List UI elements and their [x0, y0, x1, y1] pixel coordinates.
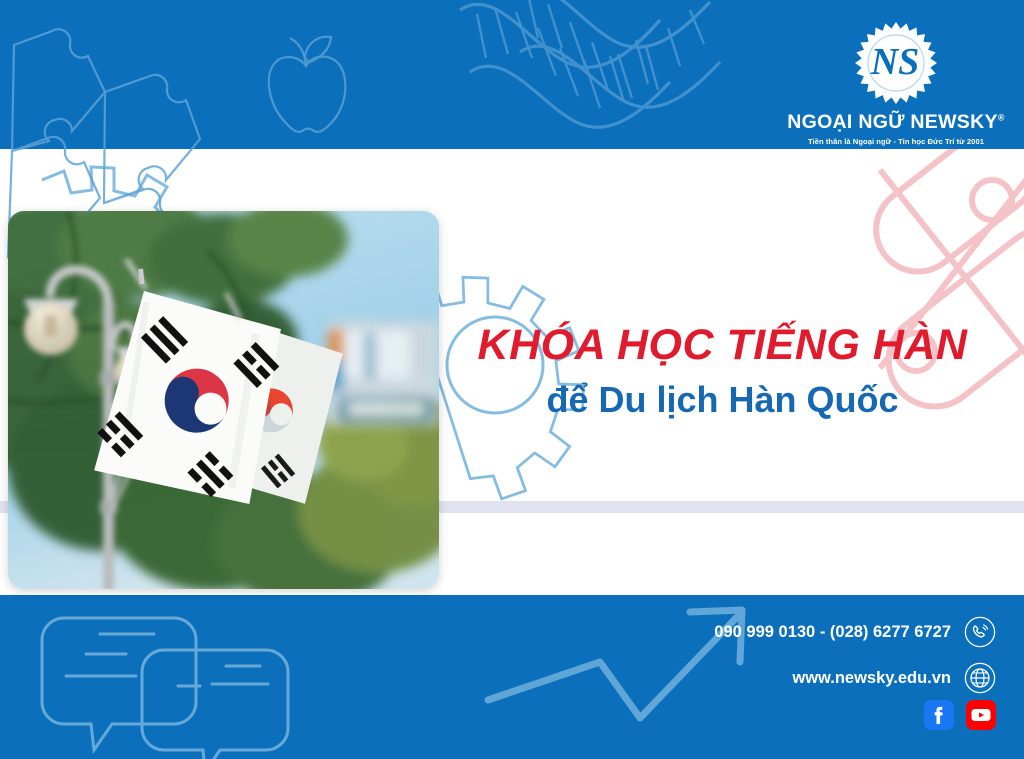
globe-icon [964, 662, 996, 694]
headline-group: KHÓA HỌC TIẾNG HÀN để Du lịch Hàn Quốc [455, 322, 990, 421]
phone-number: 090 999 0130 - (028) 6277 6727 [714, 623, 951, 642]
promotional-banner: KHÓA HỌC TIẾNG HÀN để Du lịch Hàn Quốc [0, 0, 1024, 759]
logo-wordmark-text: NGOẠI NGỮ NEWSKY [787, 111, 998, 133]
youtube-icon[interactable] [966, 700, 996, 730]
newsky-emblem-icon: NS [778, 22, 1014, 104]
registered-trademark-icon: ® [998, 113, 1005, 123]
facebook-icon[interactable] [924, 700, 954, 730]
contact-info: 090 999 0130 - (028) 6277 6727 www.newsk… [714, 616, 996, 708]
logo-wordmark: NGOẠI NGỮ NEWSKY® [778, 111, 1014, 134]
svg-text:NS: NS [870, 41, 920, 83]
headline-secondary: để Du lịch Hàn Quốc [455, 380, 990, 420]
website-row[interactable]: www.newsky.edu.vn [714, 662, 996, 694]
headline-primary: KHÓA HỌC TIẾNG HÀN [455, 322, 990, 368]
social-links [924, 700, 996, 730]
korea-flag-photo [8, 211, 439, 589]
brand-logo[interactable]: NS NGOẠI NGỮ NEWSKY® Tiền thân là Ngoại … [778, 22, 1014, 142]
photo-illustration [8, 211, 439, 589]
website-url: www.newsky.edu.vn [792, 669, 951, 688]
phone-icon [964, 616, 996, 648]
logo-tagline: Tiền thân là Ngoại ngữ - Tin học Đức Trí… [778, 137, 1014, 146]
phone-row[interactable]: 090 999 0130 - (028) 6277 6727 [714, 616, 996, 648]
